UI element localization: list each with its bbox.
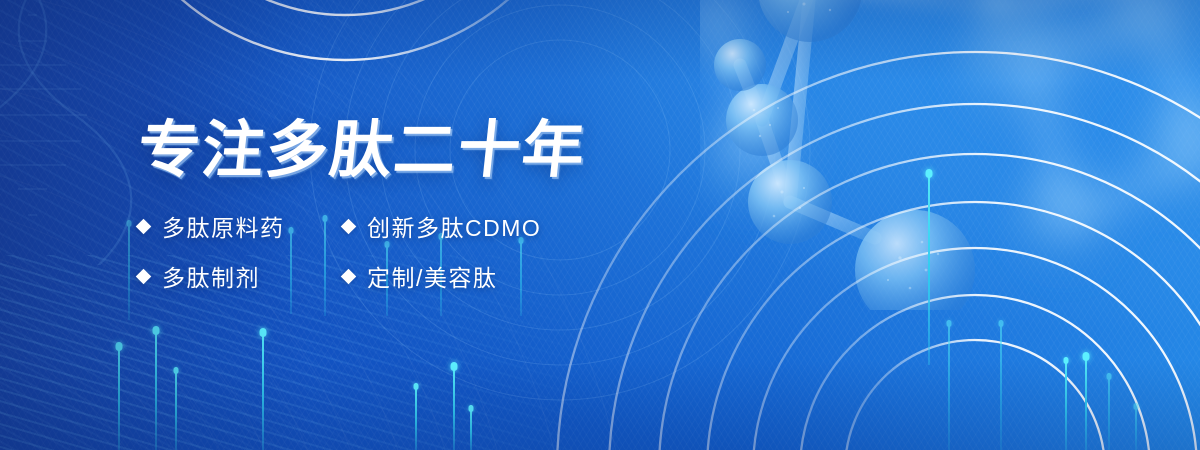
pin-marker — [1085, 358, 1087, 450]
diamond-bullet-icon — [341, 218, 357, 234]
page-title: 专注多肽二十年 — [135, 118, 702, 183]
feature-label: 创新多肽CDMO — [367, 209, 541, 243]
pin-marker — [175, 372, 177, 450]
pin-marker — [1135, 408, 1137, 450]
feature-row: 多肽原料药 创新多肽CDMO — [138, 209, 698, 243]
pin-marker — [155, 332, 157, 450]
feature-label: 定制/美容肽 — [367, 259, 497, 293]
molecule-structure-icon — [700, 0, 1200, 310]
feature-item-peptide-formulation: 多肽制剂 — [138, 259, 343, 293]
promotional-banner: 专注多肽二十年 多肽原料药 创新多肽CDMO 多肽制剂 — [0, 0, 1200, 450]
pin-marker — [928, 175, 930, 365]
pin-marker — [1000, 325, 1002, 450]
pin-marker — [415, 388, 417, 450]
feature-row: 多肽制剂 定制/美容肽 — [138, 259, 698, 293]
pin-marker — [118, 348, 120, 450]
pin-marker — [128, 225, 130, 320]
feature-item-peptide-api: 多肽原料药 — [138, 209, 343, 243]
pin-marker — [262, 334, 264, 450]
pin-marker — [470, 410, 472, 450]
diamond-bullet-icon — [136, 268, 152, 284]
feature-list: 多肽原料药 创新多肽CDMO 多肽制剂 定制/美容肽 — [138, 209, 698, 293]
banner-content: 专注多肽二十年 多肽原料药 创新多肽CDMO 多肽制剂 — [138, 118, 698, 293]
diamond-bullet-icon — [341, 268, 357, 284]
pin-marker — [453, 368, 455, 450]
feature-item-innovative-peptide-cdmo: 创新多肽CDMO — [343, 209, 541, 243]
feature-label: 多肽原料药 — [162, 209, 285, 243]
feature-label: 多肽制剂 — [162, 259, 260, 293]
pin-marker — [948, 325, 950, 450]
pin-marker — [1065, 362, 1067, 450]
pin-marker — [1108, 378, 1110, 450]
feature-item-custom-cosmetic-peptide: 定制/美容肽 — [343, 259, 497, 293]
diamond-bullet-icon — [136, 218, 152, 234]
